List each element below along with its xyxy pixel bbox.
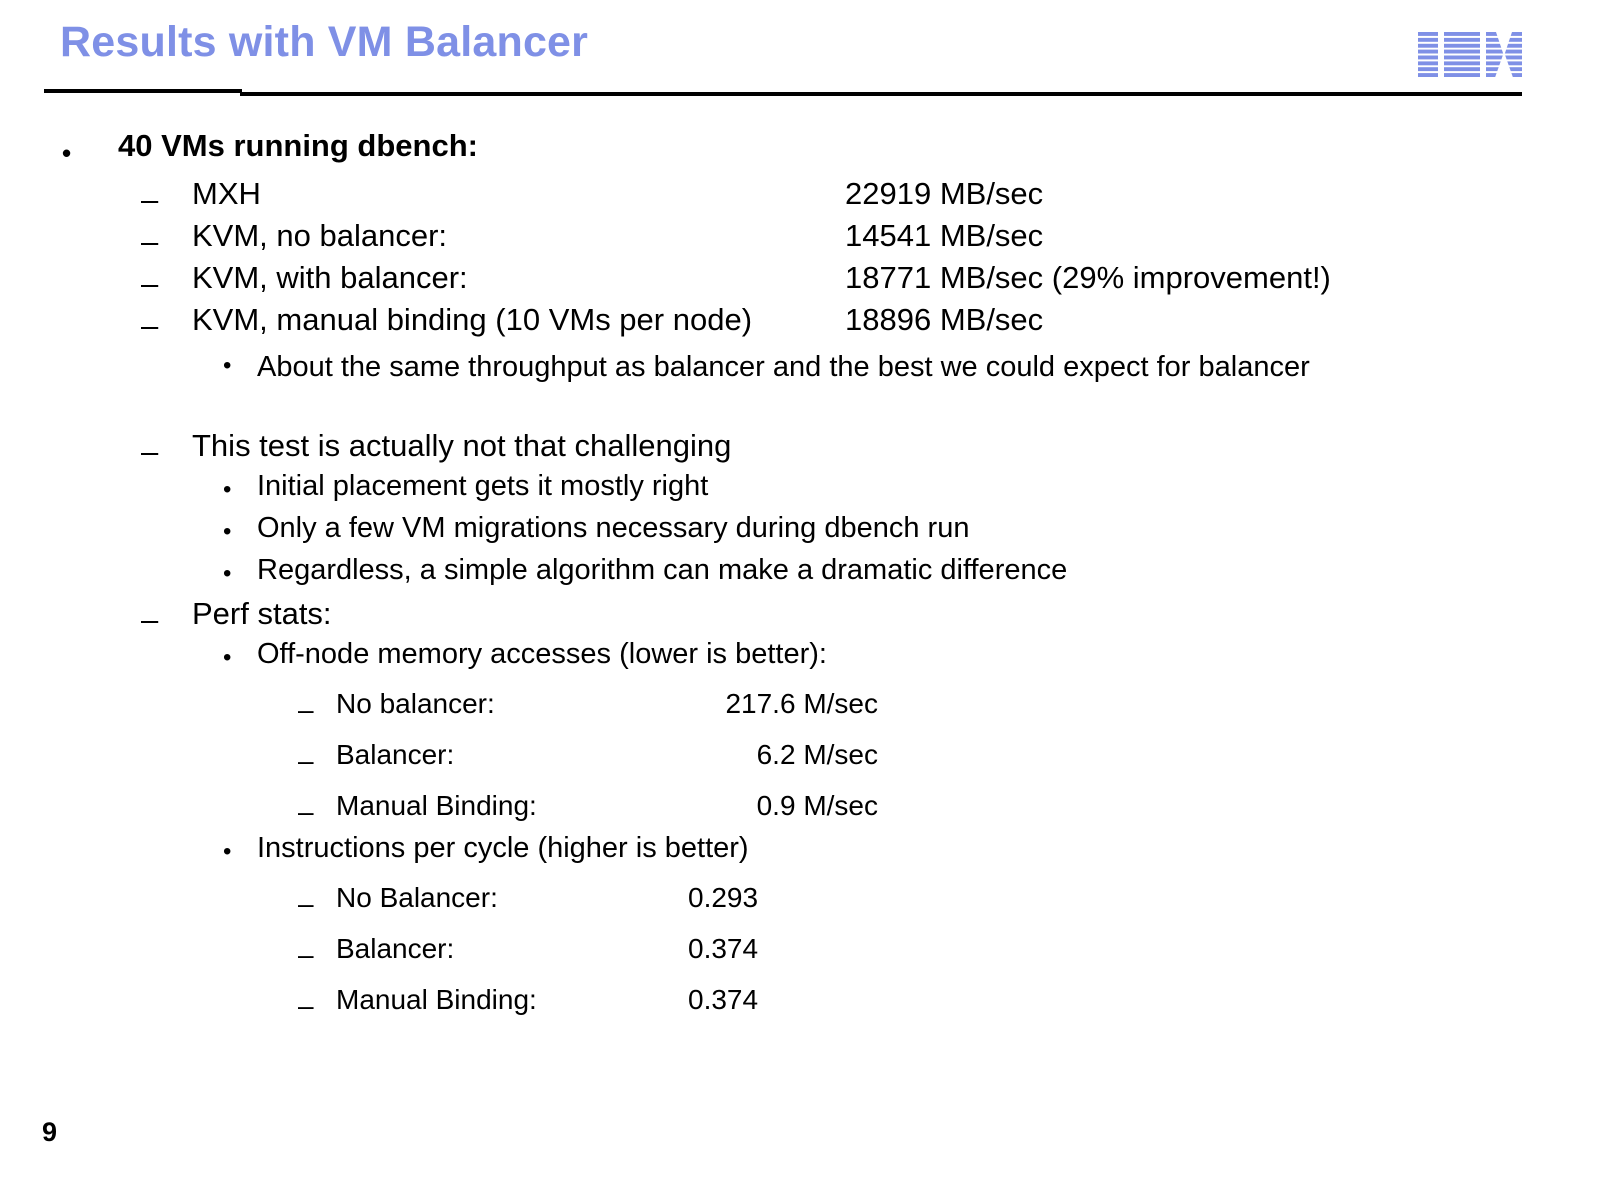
list-item-label: Regardless, a simple algorithm can make … <box>257 554 1067 587</box>
challenging-label: This test is actually not that challengi… <box>192 428 731 464</box>
list-item-label: Only a few VM migrations necessary durin… <box>257 512 969 545</box>
dash-marker: – <box>298 696 314 724</box>
stat-value: 0.374 <box>688 984 758 1016</box>
dash-marker: – <box>141 310 158 341</box>
page-title: Results with VM Balancer <box>60 18 588 67</box>
stat-label: Manual Binding: <box>336 790 537 822</box>
stat-value: 217.6 M/sec <box>578 688 878 720</box>
bullet-marker-level3: • <box>223 562 231 586</box>
row-value: 14541 MB/sec <box>845 218 1043 254</box>
stat-value: 6.2 M/sec <box>578 739 878 771</box>
dash-marker: – <box>141 184 158 215</box>
dash-marker: – <box>141 604 158 635</box>
row-label: MXH <box>192 176 261 212</box>
heading-label: 40 VMs running dbench: <box>118 128 478 164</box>
group-label: Instructions per cycle (higher is better… <box>257 832 749 865</box>
stat-value: 0.293 <box>688 882 758 914</box>
stat-label: No balancer: <box>336 688 495 720</box>
row-value: 22919 MB/sec <box>845 176 1043 212</box>
list-item-label: Initial placement gets it mostly right <box>257 470 708 503</box>
row-value: 18896 MB/sec <box>845 302 1043 338</box>
page-number: 9 <box>42 1117 57 1148</box>
dash-marker: – <box>298 747 314 775</box>
dash-marker: – <box>298 992 314 1020</box>
note-label: About the same throughput as balancer an… <box>257 346 1397 388</box>
group-label: Off-node memory accesses (lower is bette… <box>257 638 827 671</box>
bullet-marker-level3: • <box>223 646 231 670</box>
perf-stats-label: Perf stats: <box>192 596 332 632</box>
bullet-marker-level3: • <box>223 840 231 864</box>
title-rule-left <box>44 89 242 93</box>
dash-marker: – <box>141 268 158 299</box>
stat-label: Balancer: <box>336 739 454 771</box>
stat-value: 0.9 M/sec <box>578 790 878 822</box>
dash-marker: – <box>298 798 314 826</box>
stat-value: 0.374 <box>688 933 758 965</box>
row-value: 18771 MB/sec (29% improvement!) <box>845 260 1331 296</box>
bullet-marker-level3: • <box>223 520 231 544</box>
ibm-logo <box>1418 32 1522 79</box>
title-rule-right <box>240 92 1522 96</box>
row-label: KVM, with balancer: <box>192 260 468 296</box>
dash-marker: – <box>141 226 158 257</box>
stat-label: Balancer: <box>336 933 454 965</box>
dash-marker: – <box>298 890 314 918</box>
bullet-marker-level3: • <box>223 354 231 378</box>
slide: Results with VM Balancer <box>0 0 1600 1200</box>
stat-label: No Balancer: <box>336 882 498 914</box>
dash-marker: – <box>141 436 158 467</box>
bullet-marker-level1: • <box>62 140 71 166</box>
row-label: KVM, manual binding (10 VMs per node) <box>192 302 752 338</box>
dash-marker: – <box>298 941 314 969</box>
bullet-marker-level3: • <box>223 478 231 502</box>
stat-label: Manual Binding: <box>336 984 537 1016</box>
row-label: KVM, no balancer: <box>192 218 447 254</box>
